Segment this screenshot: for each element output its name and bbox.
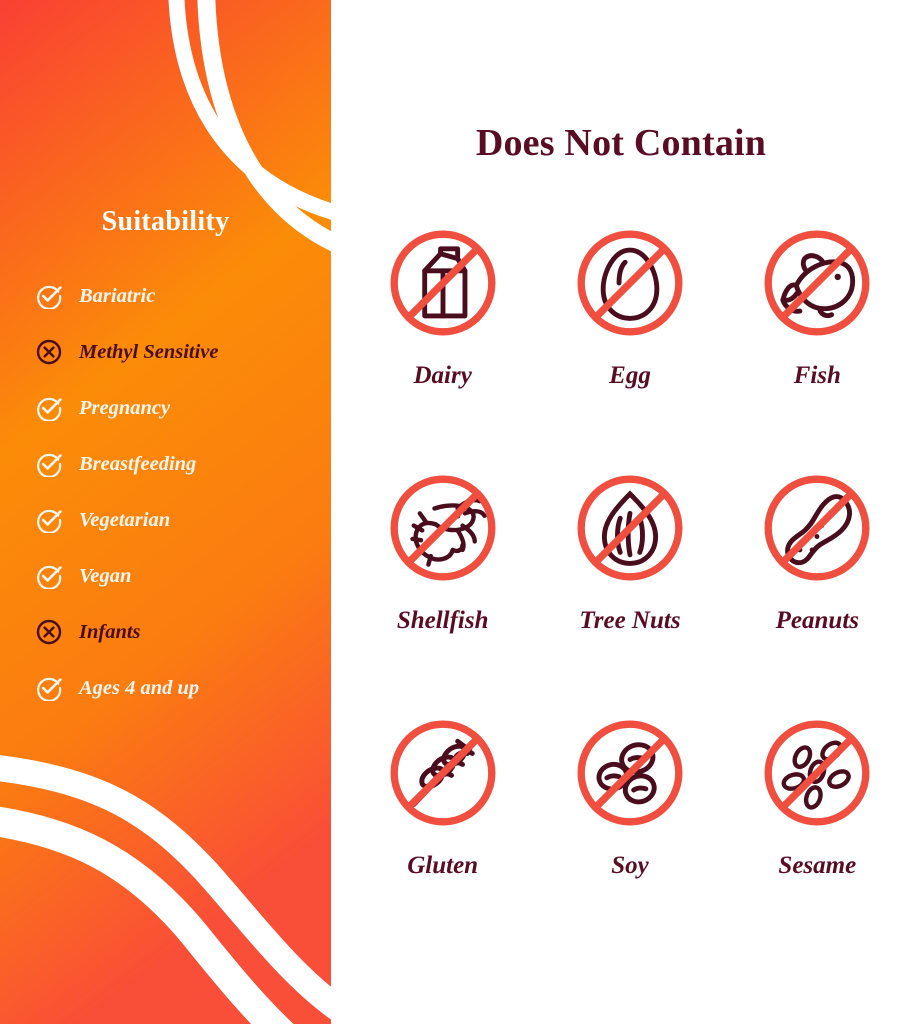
no-wheat-icon (382, 712, 504, 834)
no-peanut-icon (756, 467, 878, 589)
no-sesame-seeds-icon (756, 712, 878, 834)
suitability-title: Suitability (0, 206, 331, 238)
suitability-item-label: Ages 4 and up (79, 678, 199, 699)
check-circle-icon (36, 395, 62, 421)
x-circle-icon (36, 339, 62, 365)
allergen-cell-sesame: Sesame (724, 712, 911, 957)
suitability-item-ages-4-and-up: Ages 4 and up (36, 660, 331, 716)
allergen-cell-gluten: Gluten (349, 712, 536, 957)
allergen-label: Tree Nuts (579, 608, 680, 633)
check-circle-icon (36, 675, 62, 701)
suitability-item-label: Infants (79, 622, 141, 643)
check-circle-icon (36, 507, 62, 533)
suitability-item-label: Bariatric (79, 286, 155, 307)
allergen-cell-soy: Soy (536, 712, 723, 957)
allergen-cell-dairy: Dairy (349, 222, 536, 467)
no-shrimp-icon (382, 467, 504, 589)
no-milk-carton-icon (382, 222, 504, 344)
suitability-item-label: Breastfeeding (79, 454, 196, 475)
suitability-item-bariatric: Bariatric (36, 268, 331, 324)
no-soybean-icon (569, 712, 691, 834)
suitability-item-methyl-sensitive: Methyl Sensitive (36, 324, 331, 380)
no-egg-icon (569, 222, 691, 344)
check-circle-icon (36, 451, 62, 477)
suitability-item-label: Vegan (79, 566, 131, 587)
allergen-label: Sesame (778, 853, 856, 878)
no-fish-icon (756, 222, 878, 344)
nutrition-label-graphic: Suitability Bariatric Methyl Sensitive (0, 0, 911, 1024)
does-not-contain-title: Does Not Contain (331, 121, 911, 165)
suitability-item-infants: Infants (36, 604, 331, 660)
allergen-grid: Dairy Egg (349, 222, 911, 957)
allergen-cell-egg: Egg (536, 222, 723, 467)
allergen-label: Gluten (407, 853, 478, 878)
suitability-item-vegan: Vegan (36, 548, 331, 604)
allergen-label: Fish (794, 363, 841, 388)
suitability-item-pregnancy: Pregnancy (36, 380, 331, 436)
allergen-label: Egg (609, 363, 651, 388)
suitability-item-label: Vegetarian (79, 510, 170, 531)
allergen-label: Shellfish (397, 608, 489, 633)
allergen-label: Soy (611, 853, 649, 878)
does-not-contain-panel: Does Not Contain Dairy (331, 0, 911, 1024)
allergen-label: Peanuts (776, 608, 859, 633)
check-circle-icon (36, 283, 62, 309)
x-circle-icon (36, 619, 62, 645)
check-circle-icon (36, 563, 62, 589)
allergen-label: Dairy (414, 363, 472, 388)
allergen-cell-tree-nuts: Tree Nuts (536, 467, 723, 712)
allergen-cell-shellfish: Shellfish (349, 467, 536, 712)
no-almond-icon (569, 467, 691, 589)
allergen-cell-peanuts: Peanuts (724, 467, 911, 712)
suitability-item-breastfeeding: Breastfeeding (36, 436, 331, 492)
suitability-item-label: Pregnancy (79, 398, 170, 419)
allergen-cell-fish: Fish (724, 222, 911, 467)
suitability-panel: Suitability Bariatric Methyl Sensitive (0, 0, 331, 1024)
suitability-item-label: Methyl Sensitive (79, 342, 219, 363)
suitability-list: Bariatric Methyl Sensitive Pregnancy (36, 268, 331, 716)
suitability-item-vegetarian: Vegetarian (36, 492, 331, 548)
